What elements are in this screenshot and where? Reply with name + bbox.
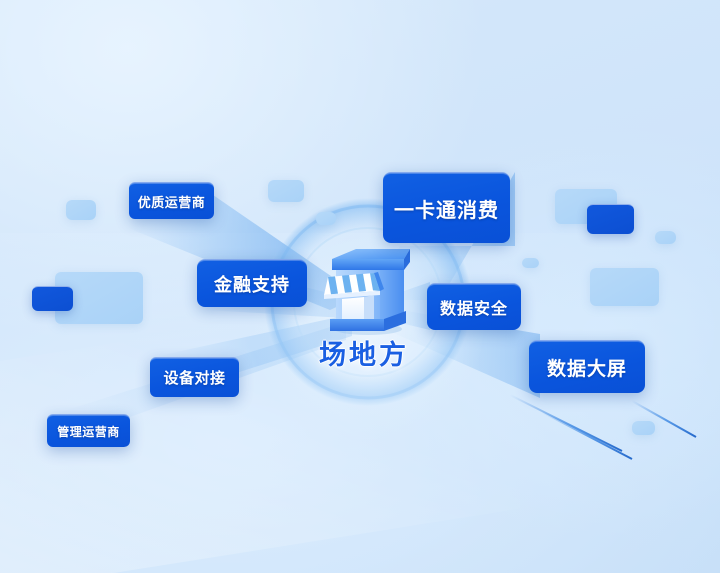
label-youzhi-yunyingshang[interactable]: 优质运营商 bbox=[129, 182, 214, 219]
label-shuju-anquan[interactable]: 数据安全 bbox=[427, 283, 521, 330]
decorative-rect-solid bbox=[32, 286, 73, 311]
store-roof-top bbox=[332, 249, 410, 259]
store-icon bbox=[318, 243, 414, 335]
streak-line bbox=[510, 395, 622, 451]
decorative-rect-light bbox=[316, 212, 336, 225]
decorative-rect-light bbox=[555, 189, 617, 224]
label-guanli-yunyingshang[interactable]: 管理运营商 bbox=[47, 414, 130, 447]
decorative-rect-light bbox=[632, 421, 655, 435]
decorative-rect-light bbox=[522, 258, 539, 268]
decorative-rect-light bbox=[590, 268, 659, 306]
decorative-rect-light bbox=[268, 180, 304, 202]
infographic-canvas: 场地方 优质运营商金融支持一卡通消费数据安全数据大屏设备对接管理运营商 bbox=[0, 0, 720, 573]
store-door-shade bbox=[364, 295, 374, 323]
label-shebei-duijie[interactable]: 设备对接 bbox=[150, 357, 239, 397]
streak-line bbox=[540, 411, 632, 459]
decorative-rect-light bbox=[55, 272, 143, 324]
streak-line bbox=[632, 401, 696, 437]
decorative-rect-light bbox=[655, 231, 676, 244]
label-jinrong-zhichi[interactable]: 金融支持 bbox=[197, 259, 307, 307]
store-awning bbox=[324, 272, 384, 299]
label-yikatong-xiaofei[interactable]: 一卡通消费 bbox=[383, 172, 510, 243]
page-title: 场地方 bbox=[284, 333, 444, 372]
label-shuju-daping[interactable]: 数据大屏 bbox=[529, 340, 645, 393]
decorative-rect-light bbox=[66, 200, 96, 220]
decorative-rect-solid bbox=[587, 204, 634, 234]
